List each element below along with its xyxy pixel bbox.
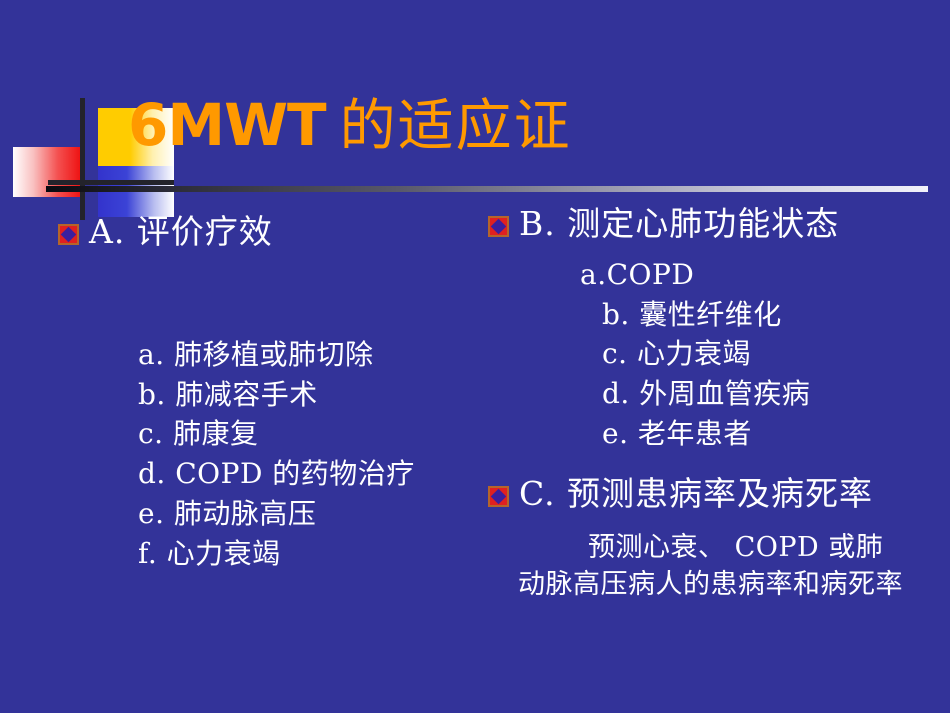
section-heading-c-label: C. 预测患病率及病死率 bbox=[519, 476, 873, 513]
list-item: b. 肺减容手术 bbox=[138, 375, 478, 415]
list-item: d. COPD 的药物治疗 bbox=[138, 454, 478, 494]
page-title-english: 6MWT bbox=[128, 91, 326, 159]
list-item: c. 肺康复 bbox=[138, 414, 478, 454]
list-item: c. 心力衰竭 bbox=[602, 334, 908, 374]
diamond-bullet-icon bbox=[488, 216, 509, 237]
right-column-list: a.COPD b. 囊性纤维化 c. 心力衰竭 d. 外周血管疾病 e. 老年患… bbox=[580, 255, 908, 454]
section-heading-b: B. 测定心肺功能状态 bbox=[488, 206, 908, 243]
diamond-bullet-icon bbox=[488, 486, 509, 507]
horizontal-line-icon bbox=[48, 180, 174, 185]
left-column-list: a. 肺移植或肺切除 b. 肺减容手术 c. 肺康复 d. COPD 的药物治疗… bbox=[138, 335, 478, 574]
list-item: a. 肺移植或肺切除 bbox=[138, 335, 478, 375]
section-heading-a: A. 评价疗效 bbox=[58, 214, 478, 251]
right-column: B. 测定心肺功能状态 a.COPD b. 囊性纤维化 c. 心力衰竭 d. 外… bbox=[488, 206, 908, 603]
list-item: d. 外周血管疾病 bbox=[602, 374, 908, 414]
list-item: b. 囊性纤维化 bbox=[602, 295, 908, 335]
section-heading-a-label: A. 评价疗效 bbox=[89, 214, 273, 251]
list-item: e. 老年患者 bbox=[602, 414, 908, 454]
slide-canvas: 6MWT的适应证 A. 评价疗效 a. 肺移植或肺切除 b. 肺减容手术 c. … bbox=[0, 0, 950, 713]
page-title-chinese: 的适应证 bbox=[340, 94, 572, 159]
vertical-line-icon bbox=[80, 98, 85, 220]
page-title: 6MWT的适应证 bbox=[128, 96, 572, 155]
diamond-bullet-icon bbox=[58, 224, 79, 245]
section-heading-c: C. 预测患病率及病死率 bbox=[488, 476, 908, 513]
title-divider bbox=[46, 186, 928, 192]
list-item: e. 肺动脉高压 bbox=[138, 494, 478, 534]
left-column: A. 评价疗效 a. 肺移植或肺切除 b. 肺减容手术 c. 肺康复 d. CO… bbox=[58, 214, 478, 573]
decorative-logo bbox=[10, 95, 140, 220]
list-item: a.COPD bbox=[580, 255, 908, 295]
section-heading-b-label: B. 测定心肺功能状态 bbox=[519, 206, 839, 243]
list-item: f. 心力衰竭 bbox=[138, 534, 478, 574]
section-c-paragraph: 预测心衰、 COPD 或肺动脉高压病人的患病率和病死率 bbox=[518, 529, 910, 604]
